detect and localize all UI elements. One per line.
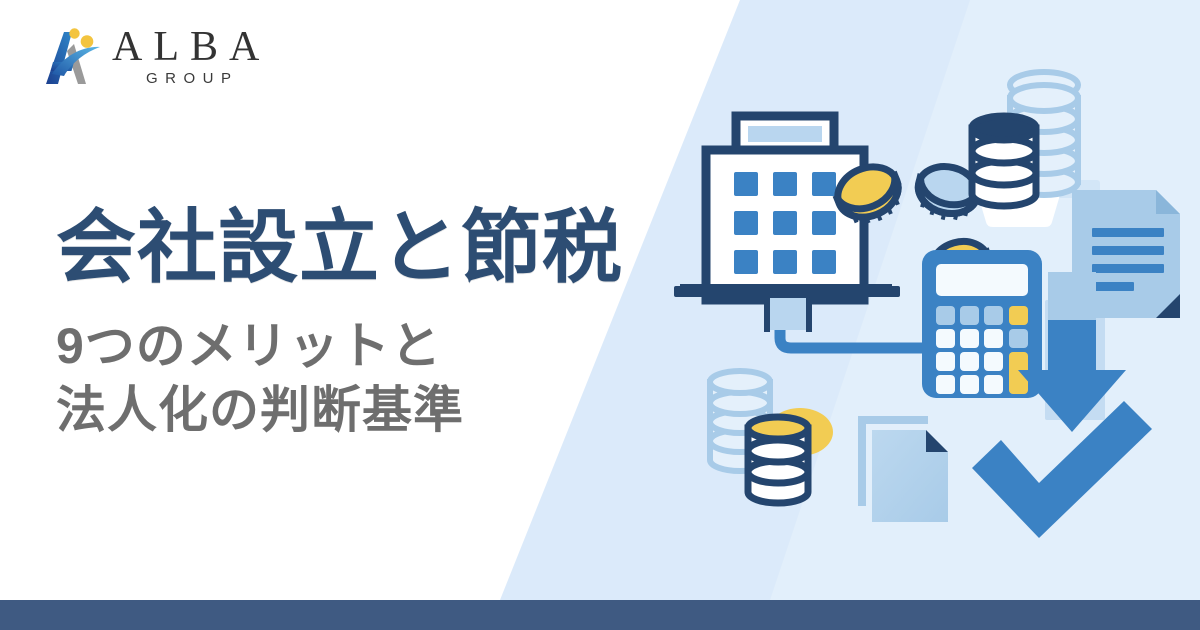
alba-a-mark-icon	[34, 18, 106, 90]
company-incorporation-tax-saving-illustration	[660, 60, 1200, 560]
subtitle-line-2: 法人化の判断基準	[56, 378, 696, 442]
banner-root: ALBA GROUP 会社設立と節税 9つのメリットと 法人化の判断基準	[0, 0, 1200, 630]
brand-name: ALBA	[112, 24, 270, 70]
brand-wordmark: ALBA GROUP	[112, 24, 270, 88]
brand-logo[interactable]: ALBA GROUP	[34, 18, 284, 96]
brand-suffix: GROUP	[146, 70, 270, 88]
documents-stack-icon	[858, 416, 948, 522]
page-title: 会社設立と節税	[56, 196, 696, 300]
coin-stack-bottom-left-icon	[710, 371, 833, 503]
coin-stack-navy-icon	[972, 116, 1036, 206]
headline-block: 会社設立と節税 9つのメリットと 法人化の判断基準	[56, 196, 696, 442]
subtitle-line-1: 9つのメリットと	[56, 314, 696, 378]
office-building-icon	[674, 116, 900, 332]
bottom-accent-bar	[0, 600, 1200, 630]
check-mark-icon	[972, 401, 1152, 546]
